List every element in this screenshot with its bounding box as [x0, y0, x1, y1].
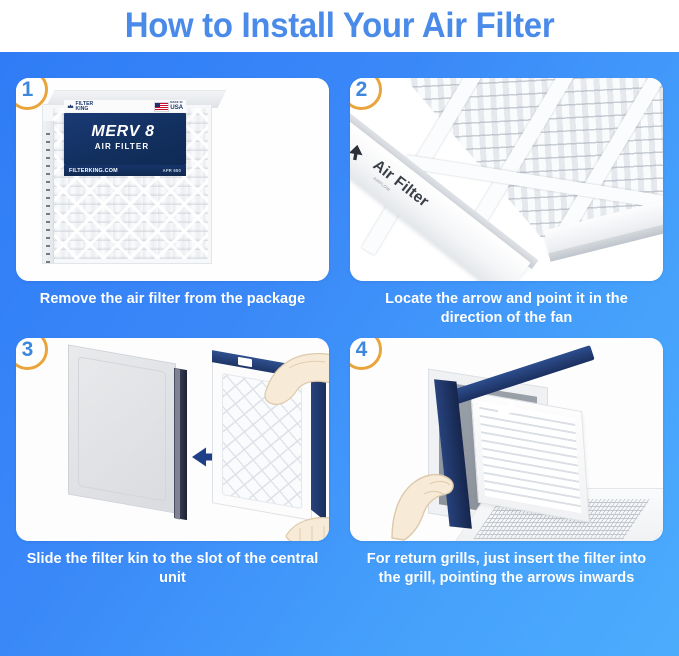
filter-side-pleat-ticks — [46, 127, 50, 264]
slot-opening-inner — [175, 369, 180, 520]
merv-rating-text: MERV 8 — [64, 123, 182, 141]
filter-body-3d: FILTER KING MADE IN USA — [42, 90, 222, 268]
website-text: FILTERKING.COM — [69, 168, 118, 174]
filter-corner-assembly: Air Filter AIRFLOW — [358, 78, 663, 281]
step-1-caption: Remove the air filter from the package — [16, 290, 329, 309]
louver-slats — [479, 401, 581, 514]
steps-panel: 1 — [0, 52, 679, 656]
central-unit-slot — [68, 345, 176, 514]
filter-label-footer: FILTERKING.COM APR 650 — [64, 165, 186, 176]
pleated-air-filter-photo: FILTER KING MADE IN USA — [16, 78, 329, 281]
page-title: How to Install Your Air Filter — [125, 6, 555, 46]
filter-label-navy-panel: MERV 8 AIR FILTER — [64, 113, 186, 165]
steps-grid: 1 — [16, 78, 663, 589]
filter-king-logo: FILTER KING — [67, 102, 93, 112]
hand-icon — [284, 514, 329, 541]
filter-corner-with-airflow-arrow: Air Filter AIRFLOW — [350, 78, 663, 281]
slide-filter-into-central-unit-slot — [16, 338, 329, 541]
hand-icon — [259, 348, 329, 410]
step-2-caption: Locate the arrow and point it in the dir… — [350, 290, 663, 328]
country-label: USA — [170, 105, 183, 111]
infographic-root: How to Install Your Air Filter 1 — [0, 0, 679, 656]
apr-rating-text: APR 650 — [163, 168, 181, 173]
hand-icon — [390, 450, 486, 541]
step-3-card: 3 — [16, 338, 329, 541]
product-type-text: AIR FILTER — [64, 142, 180, 151]
step-1-card: 1 — [16, 78, 329, 281]
grille-door-louvered — [470, 391, 589, 523]
title-band: How to Install Your Air Filter — [0, 0, 679, 52]
step-4-caption: For return grills, just insert the filte… — [350, 550, 663, 588]
brand-line-2: KING — [76, 107, 94, 112]
step-4-card: 4 — [350, 338, 663, 541]
step-4: 4 — [350, 338, 663, 588]
filter-label-header: FILTER KING MADE IN USA — [64, 100, 186, 113]
filter-left-side-wall — [43, 121, 54, 264]
crown-icon — [67, 103, 74, 110]
step-3: 3 — [16, 338, 329, 588]
us-flag-icon — [154, 102, 169, 112]
insert-filter-into-return-grille — [350, 338, 663, 541]
made-in-usa-text: MADE IN USA — [170, 102, 183, 111]
brand-text-block: FILTER KING — [76, 102, 94, 112]
step-3-caption: Slide the filter kin to the slot of the … — [16, 550, 329, 588]
made-in-usa-mark: MADE IN USA — [154, 102, 183, 112]
step-2-card: 2 — [350, 78, 663, 281]
step-1: 1 — [16, 78, 329, 328]
airflow-arrow-icon — [350, 141, 368, 165]
step-2: 2 — [350, 78, 663, 328]
